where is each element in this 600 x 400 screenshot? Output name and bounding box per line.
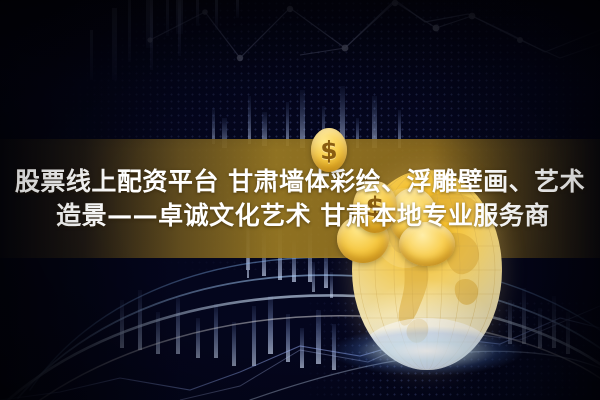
headline-line-1: 股票线上配资平台 甘肃墙体彩绘、浮雕壁画、艺术 (15, 168, 585, 196)
headline-line-2: 造景——卓诚文化艺术 甘肃本地专业服务商 (50, 202, 550, 230)
headline-text: 股票线上配资平台 甘肃墙体彩绘、浮雕壁画、艺术 造景——卓诚文化艺术 甘肃本地专… (0, 139, 600, 258)
promo-banner: $ $ 股票线上配资平台 甘肃墙体彩绘、浮雕壁画、艺术 造景——卓诚文化艺术 甘… (0, 0, 600, 400)
dollar-coin-icon-top: $ (311, 128, 347, 172)
top-vignette (0, 0, 600, 150)
